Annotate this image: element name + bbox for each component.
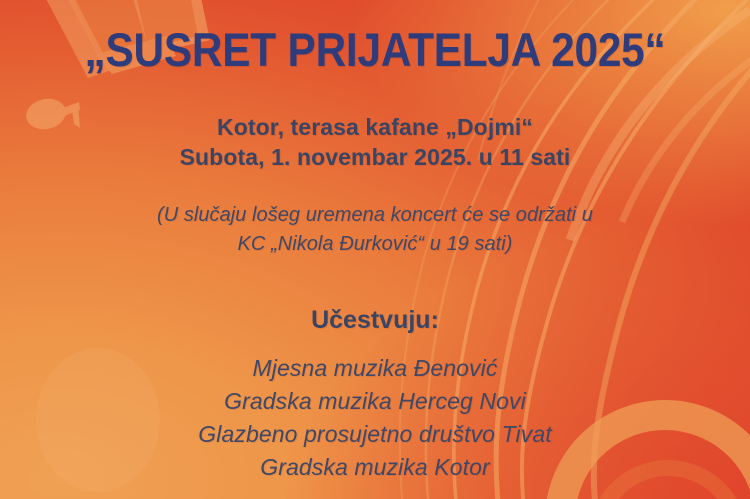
page-title: „SUSRET PRIJATELJA 2025“ — [38, 26, 713, 73]
list-item: Glazbeno prosujetno društvo Tivat — [0, 418, 750, 451]
participants-heading: Učestvuju: — [0, 305, 750, 335]
poster-canvas: „SUSRET PRIJATELJA 2025“ Kotor, terasa k… — [0, 0, 750, 499]
participants-list: Mjesna muzika Đenović Gradska muzika Her… — [0, 352, 750, 484]
rain-notice-line-2: KC „Nikola Đurković“ u 19 sati) — [0, 230, 750, 259]
venue-datetime: Subota, 1. novembar 2025. u 11 sati — [0, 142, 750, 172]
venue-location: Kotor, terasa kafane „Dojmi“ — [0, 112, 750, 142]
list-item: Mjesna muzika Đenović — [0, 352, 750, 385]
list-item: Gradska muzika Herceg Novi — [0, 385, 750, 418]
venue-block: Kotor, terasa kafane „Dojmi“ Subota, 1. … — [0, 112, 750, 172]
rain-notice-line-1: (U slučaju lošeg uremena koncert će se o… — [0, 201, 750, 230]
poster-content: „SUSRET PRIJATELJA 2025“ Kotor, terasa k… — [0, 0, 750, 499]
list-item: Gradska muzika Kotor — [0, 451, 750, 484]
rain-notice: (U slučaju lošeg uremena koncert će se o… — [0, 201, 750, 259]
